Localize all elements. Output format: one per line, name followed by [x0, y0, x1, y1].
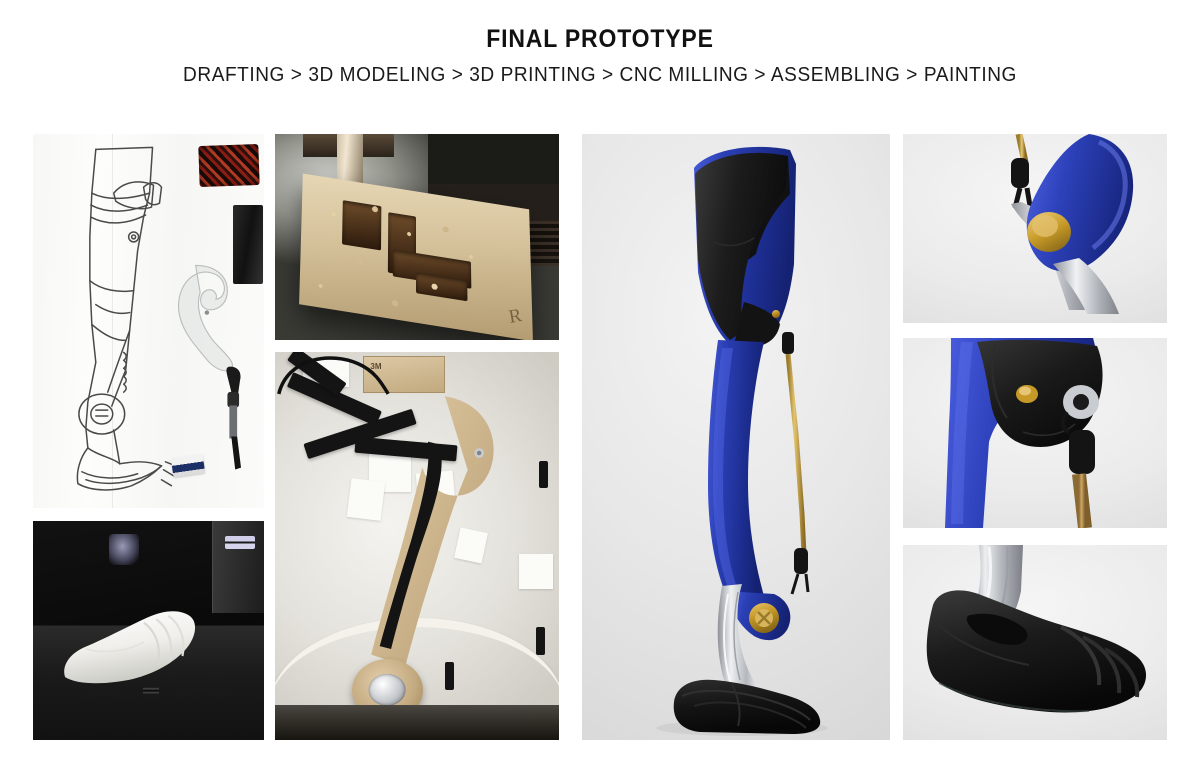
bench-edge-shadow [275, 705, 559, 740]
process-breadcrumb: DRAFTING > 3D MODELING > 3D PRINTING > C… [42, 52, 1158, 86]
paper-scrap [519, 554, 553, 589]
ankle-joint-detail-illustration [903, 134, 1167, 323]
panel-detail-ankle-joint[interactable] [903, 134, 1167, 323]
cable-clip [539, 461, 548, 488]
steel-bearing [369, 673, 406, 705]
panel-final-prototype-hero[interactable] [582, 134, 890, 740]
drafting-compass-tool [209, 362, 258, 474]
printer-interior-light [109, 534, 139, 565]
panel-cnc-milling[interactable]: R [275, 134, 559, 340]
cable-clip [536, 627, 545, 654]
panel-drafting-sketch[interactable] [33, 134, 264, 508]
final-prosthetic-leg [582, 134, 890, 740]
cnc-spindle-and-bit [337, 134, 363, 186]
printer-status-led [225, 536, 255, 549]
printer-side-panel [212, 521, 264, 613]
printed-foot-shell-white [56, 600, 204, 688]
panel-assembling[interactable] [275, 352, 559, 740]
panel-detail-foot[interactable] [903, 545, 1167, 740]
drafting-eraser [170, 453, 205, 476]
page-title: FINAL PROTOTYPE [48, 0, 1152, 52]
printed-foot-detail-illustration [903, 545, 1167, 740]
drafting-tool-bag [199, 144, 260, 187]
header: FINAL PROTOTYPE DRAFTING > 3D MODELING >… [0, 0, 1200, 86]
socket-cable-detail-illustration [903, 338, 1167, 528]
panel-detail-socket-cable[interactable] [903, 338, 1167, 528]
panel-3d-printing[interactable] [33, 521, 264, 740]
cable-clip [445, 662, 454, 689]
